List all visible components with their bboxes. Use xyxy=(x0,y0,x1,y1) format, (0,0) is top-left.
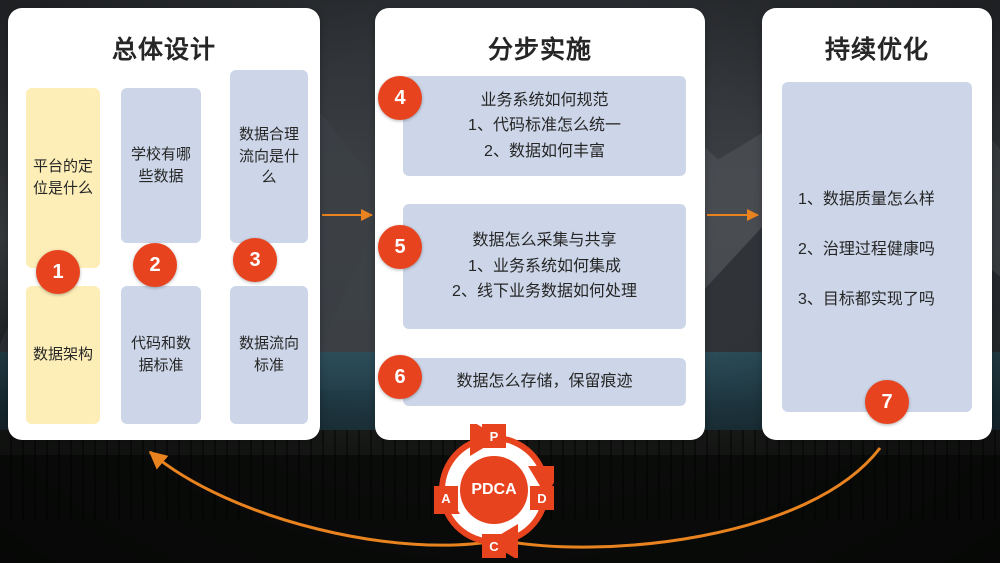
box-data-flow-standard-label: 数据流向标准 xyxy=(234,333,304,377)
diagram-stage: 总体设计 平台的定位是什么 数据架构 学校有哪些数据 代码和数据标准 数据合理流… xyxy=(0,0,1000,563)
step-badge-3: 3 xyxy=(233,238,277,282)
pdca-plan-marker: P xyxy=(482,424,506,448)
step-badge-7-label: 7 xyxy=(881,391,892,414)
pdca-wheel: PDCA P D C A xyxy=(434,424,554,558)
impl2-line3: 2、线下业务数据如何处理 xyxy=(452,279,637,305)
step-badge-1: 1 xyxy=(36,250,80,294)
pdca-act-label: A xyxy=(441,491,450,506)
step-badge-5-label: 5 xyxy=(394,236,405,259)
box-data-flow-standard[interactable]: 数据流向标准 xyxy=(230,286,308,424)
box-data-collection-and-sharing[interactable]: 数据怎么采集与共享 1、业务系统如何集成 2、线下业务数据如何处理 xyxy=(403,204,686,329)
box-code-and-data-standard-label: 代码和数据标准 xyxy=(125,333,197,377)
box-school-data[interactable]: 学校有哪些数据 xyxy=(121,88,201,243)
panel-overall-design: 总体设计 平台的定位是什么 数据架构 学校有哪些数据 代码和数据标准 数据合理流… xyxy=(8,8,320,440)
step-badge-4-label: 4 xyxy=(394,87,405,110)
box-data-architecture[interactable]: 数据架构 xyxy=(26,286,100,424)
pdca-check-marker: C xyxy=(482,534,506,558)
step-badge-6: 6 xyxy=(378,355,422,399)
box-data-flow-direction-label: 数据合理流向是什么 xyxy=(234,124,304,189)
pdca-do-marker: D xyxy=(530,486,554,510)
impl1-line2: 1、代码标准怎么统一 xyxy=(468,113,621,139)
step-badge-4: 4 xyxy=(378,76,422,120)
pdca-plan-label: P xyxy=(490,429,499,444)
box-data-flow-direction[interactable]: 数据合理流向是什么 xyxy=(230,70,308,243)
pdca-act-marker: A xyxy=(434,486,458,510)
pdca-check-label: C xyxy=(489,539,498,554)
step-badge-7: 7 xyxy=(865,380,909,424)
panel-continuous-optimization: 持续优化 1、数据质量怎么样 2、治理过程健康吗 3、目标都实现了吗 xyxy=(762,8,992,440)
step-badge-5: 5 xyxy=(378,225,422,269)
impl2-line1: 数据怎么采集与共享 xyxy=(472,228,616,254)
step-badge-3-label: 3 xyxy=(249,249,260,272)
box-business-system-standardization[interactable]: 业务系统如何规范 1、代码标准怎么统一 2、数据如何丰富 xyxy=(403,76,686,176)
box-code-and-data-standard[interactable]: 代码和数据标准 xyxy=(121,286,201,424)
panel-title-overall-design: 总体设计 xyxy=(8,30,320,66)
opt-line3: 3、目标都实现了吗 xyxy=(798,285,956,309)
box-optimization-questions[interactable]: 1、数据质量怎么样 2、治理过程健康吗 3、目标都实现了吗 xyxy=(782,82,972,412)
step-badge-2: 2 xyxy=(133,243,177,287)
box-platform-positioning[interactable]: 平台的定位是什么 xyxy=(26,88,100,268)
step-badge-6-label: 6 xyxy=(394,366,405,389)
impl2-line2: 1、业务系统如何集成 xyxy=(468,254,621,280)
panel-title-continuous-optimization: 持续优化 xyxy=(762,30,992,66)
pdca-do-label: D xyxy=(537,491,546,506)
opt-line2: 2、治理过程健康吗 xyxy=(798,235,956,259)
impl1-line3: 2、数据如何丰富 xyxy=(484,139,605,165)
impl1-line1: 业务系统如何规范 xyxy=(480,88,608,114)
box-data-architecture-label: 数据架构 xyxy=(33,344,93,366)
impl3-line1: 数据怎么存储，保留痕迹 xyxy=(456,369,632,395)
step-badge-2-label: 2 xyxy=(149,254,160,277)
step-badge-1-label: 1 xyxy=(52,261,63,284)
pdca-center: PDCA xyxy=(460,456,528,524)
box-data-storage-and-trace[interactable]: 数据怎么存储，保留痕迹 xyxy=(403,358,686,406)
pdca-center-label: PDCA xyxy=(471,481,516,499)
panel-title-step-implementation: 分步实施 xyxy=(375,30,705,66)
opt-line1: 1、数据质量怎么样 xyxy=(798,185,956,209)
box-platform-positioning-label: 平台的定位是什么 xyxy=(30,156,96,200)
panel-step-implementation: 分步实施 业务系统如何规范 1、代码标准怎么统一 2、数据如何丰富 数据怎么采集… xyxy=(375,8,705,440)
box-school-data-label: 学校有哪些数据 xyxy=(125,144,197,188)
